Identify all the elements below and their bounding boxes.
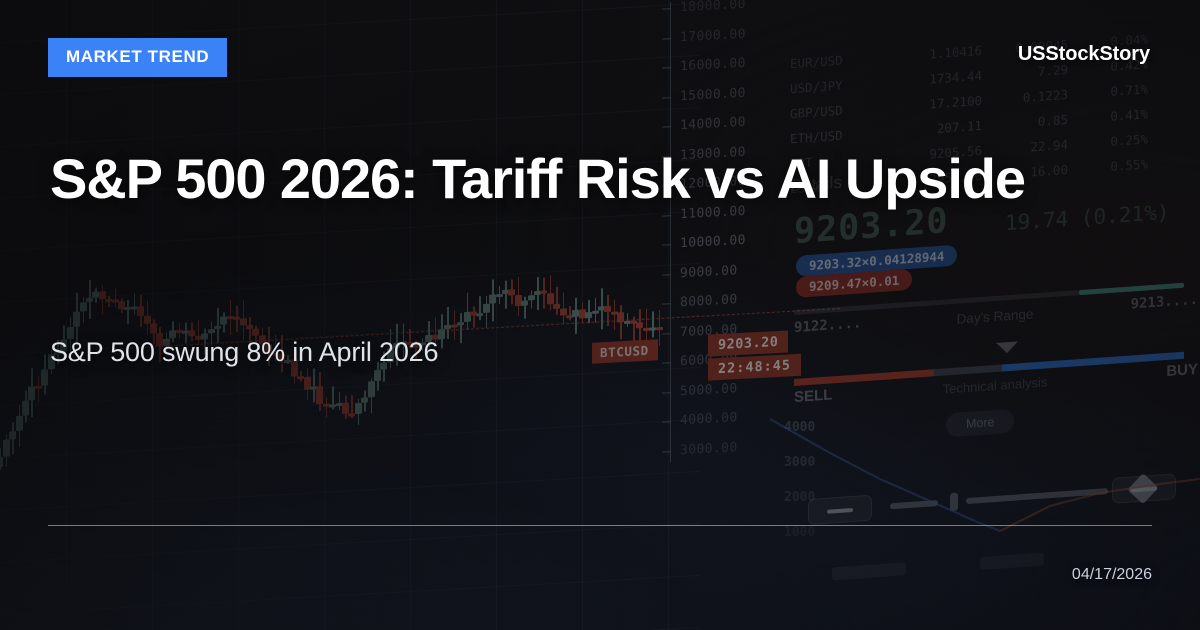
brand-logo: USStockStory [1018,43,1150,66]
footer-divider [48,525,1152,526]
subtitle: S&P 500 swung 8% in April 2026 [50,337,438,368]
category-badge: MARKET TREND [48,38,227,77]
page-title: S&P 500 2026: Tariff Risk vs AI Upside [50,147,1160,211]
social-card: 18000.0017000.0016000.0015000.0014000.00… [0,0,1200,630]
card-foreground: MARKET TREND USStockStory S&P 500 2026: … [0,0,1200,630]
date-stamp: 04/17/2026 [1072,566,1152,584]
